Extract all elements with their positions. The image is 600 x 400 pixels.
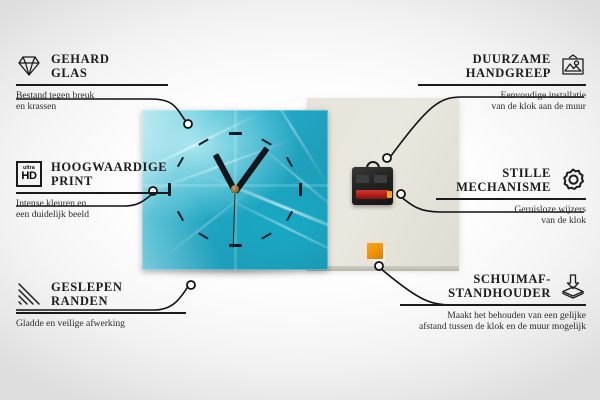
feature-description: Geruisloze wijzers van de klok bbox=[436, 204, 586, 227]
feature-header: DUURZAME HANDGREEP bbox=[418, 52, 586, 80]
feature-divider bbox=[418, 84, 586, 86]
leader-endpoint bbox=[383, 154, 391, 162]
feature-schuimafstandhouder: SCHUIMAF- STANDHOUDER Maakt het behouden… bbox=[400, 272, 586, 332]
gear-icon bbox=[560, 167, 586, 193]
feature-description: Maakt het behouden van een gelijke afsta… bbox=[400, 310, 586, 333]
infographic-canvas: GEHARD GLAS Bestand tegen breuk en krass… bbox=[0, 0, 600, 400]
feature-description: Gladde en veilige afwerking bbox=[16, 318, 186, 329]
feature-duurzame-handgreep: DUURZAME HANDGREEP Eenvoudige installati… bbox=[418, 52, 586, 112]
feature-header: SCHUIMAF- STANDHOUDER bbox=[400, 272, 586, 300]
feature-stille-mechanisme: STILLE MECHANISME Geruisloze wijzers van… bbox=[436, 166, 586, 226]
feature-title: DUURZAME HANDGREEP bbox=[466, 52, 551, 80]
feature-header: STILLE MECHANISME bbox=[436, 166, 586, 194]
leader-endpoint bbox=[397, 190, 405, 198]
feature-title: GESLEPEN RANDEN bbox=[51, 280, 123, 308]
feature-divider bbox=[400, 304, 586, 306]
feature-divider bbox=[16, 312, 186, 314]
feature-description: Bestand tegen breuk en krassen bbox=[16, 90, 168, 113]
ultra-hd-icon: ultra HD bbox=[16, 161, 42, 187]
feature-description: Intense kleuren en een duidelijk beeld bbox=[16, 198, 168, 221]
feature-header: GESLEPEN RANDEN bbox=[16, 280, 186, 308]
feature-gehard-glas: GEHARD GLAS Bestand tegen breuk en krass… bbox=[16, 52, 168, 112]
feature-divider bbox=[16, 84, 168, 86]
hanging-picture-icon bbox=[560, 53, 586, 79]
leader-endpoint bbox=[184, 120, 192, 128]
feature-divider bbox=[436, 198, 586, 200]
diamond-icon bbox=[16, 53, 42, 79]
feature-title: SCHUIMAF- STANDHOUDER bbox=[448, 272, 551, 300]
feature-title: HOOGWAARDIGE PRINT bbox=[51, 160, 167, 188]
foam-spacer-icon bbox=[560, 273, 586, 299]
leader-endpoint bbox=[187, 281, 195, 289]
feature-hoogwaardige-print: ultra HD HOOGWAARDIGE PRINT Intense kleu… bbox=[16, 160, 168, 220]
feature-header: GEHARD GLAS bbox=[16, 52, 168, 80]
feature-title: STILLE MECHANISME bbox=[456, 166, 551, 194]
ultra-hd-icon-main-text: HD bbox=[21, 171, 36, 182]
leader-endpoint bbox=[375, 262, 383, 270]
feature-description: Eenvoudige installatie van de klok aan d… bbox=[418, 90, 586, 113]
feature-divider bbox=[16, 192, 168, 194]
feature-geslepen-randen: GESLEPEN RANDEN Gladde en veilige afwerk… bbox=[16, 280, 186, 329]
beveled-edge-icon bbox=[16, 281, 42, 307]
feature-header: ultra HD HOOGWAARDIGE PRINT bbox=[16, 160, 168, 188]
feature-title: GEHARD GLAS bbox=[51, 52, 109, 80]
